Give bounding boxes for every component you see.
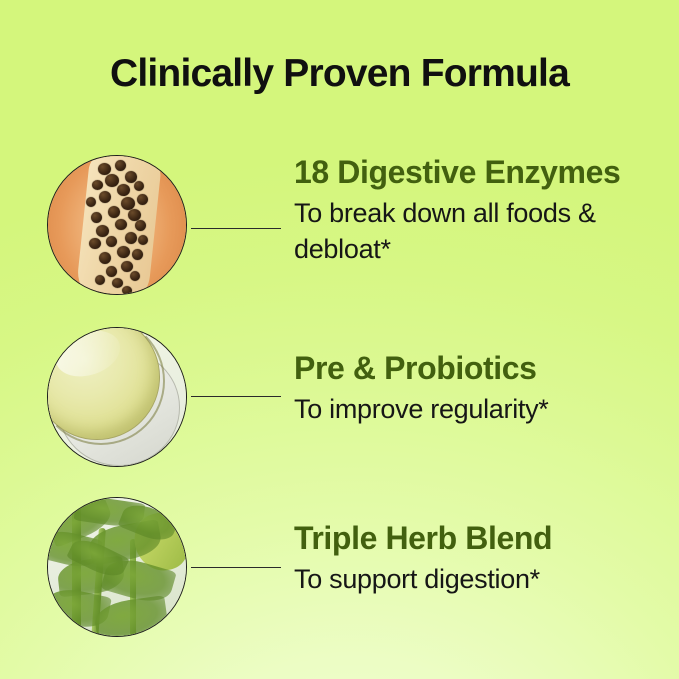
fennel-illustration — [47, 497, 187, 637]
feature-subtext: To support digestion* — [294, 561, 664, 597]
feature-row: Pre & Probiotics To improve regularity* — [0, 320, 679, 470]
papaya-seeds — [47, 155, 187, 295]
papaya-illustration — [47, 155, 187, 295]
page-title: Clinically Proven Formula — [0, 50, 679, 98]
connector-line — [191, 567, 281, 568]
feature-text-block: Triple Herb Blend To support digestion* — [294, 518, 664, 597]
petri-dish-illustration — [47, 327, 187, 467]
feature-image-papaya — [47, 155, 187, 295]
feature-image-petri-dish — [47, 327, 187, 467]
feature-row: Triple Herb Blend To support digestion* — [0, 490, 679, 640]
feature-image-fennel — [47, 497, 187, 637]
feature-heading: 18 Digestive Enzymes — [294, 152, 664, 193]
feature-subtext: To improve regularity* — [294, 391, 664, 427]
feature-heading: Pre & Probiotics — [294, 348, 664, 389]
feature-row: 18 Digestive Enzymes To break down all f… — [0, 148, 679, 298]
feature-heading: Triple Herb Blend — [294, 518, 664, 559]
feature-text-block: Pre & Probiotics To improve regularity* — [294, 348, 664, 427]
feature-text-block: 18 Digestive Enzymes To break down all f… — [294, 152, 664, 267]
feature-subtext: To break down all foods & debloat* — [294, 195, 664, 267]
infographic-panel: Clinically Proven Formula — [0, 0, 679, 679]
connector-line — [191, 228, 281, 229]
connector-line — [191, 396, 281, 397]
